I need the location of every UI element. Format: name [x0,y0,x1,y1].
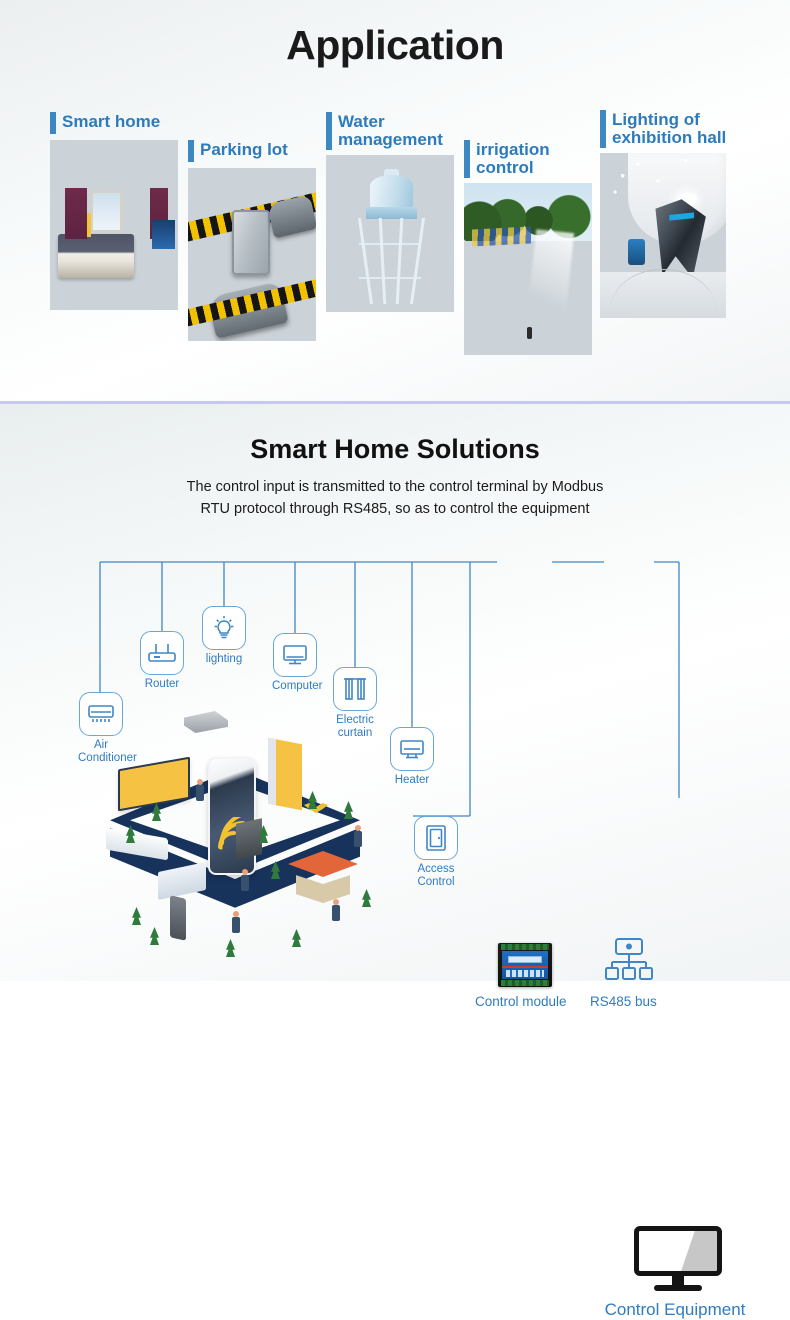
page-title: Application [0,22,790,69]
parking-lot-thumbnail [188,168,316,341]
application-card-irrigation-control[interactable]: irrigation control [464,140,594,355]
iso-tree [292,929,301,947]
module-face [502,951,548,979]
card-label: Parking lot [200,140,288,159]
node-label: Router [139,678,185,691]
iso-tree [226,939,235,957]
router-icon [140,631,184,675]
iso-person [332,899,340,921]
accent-bar [326,112,332,150]
rs485-bus-label: RS485 bus [590,994,657,1009]
accent-bar [464,140,470,178]
smart-home-thumbnail [50,140,178,310]
water-spray [525,229,574,332]
iso-tree [344,801,353,819]
tv-screen [152,220,175,249]
iso-refrigerator [268,738,302,811]
accent-bar [600,110,606,148]
smart-home-topology-diagram: Air Conditioner Router [0,404,790,981]
card-label-row: Parking lot [188,140,318,162]
car-upper [267,195,316,238]
iso-house [288,851,358,905]
card-label: irrigation control [476,140,550,178]
card-label: Smart home [62,112,160,131]
card-label: Lighting of exhibition hall [612,110,726,148]
door-access-icon [414,816,458,860]
monitor-screen [634,1226,722,1276]
application-section: Application Smart home Parking lot Water [0,0,790,403]
terminal-block-top [501,944,549,950]
control-equipment-label: Control Equipment [560,1300,790,1320]
accent-bar [188,140,194,162]
heater-icon [390,727,434,771]
screen-gloss [681,1231,717,1271]
display-kiosk [628,239,646,265]
iso-person [354,825,362,847]
card-label-row: irrigation control [464,140,594,178]
node-access-control[interactable]: Access Control [413,816,459,888]
tower-legs [362,218,421,304]
water-management-thumbnail [326,155,454,312]
iso-person [232,911,240,933]
iso-smartphone [208,757,256,875]
iso-tree [132,907,141,925]
application-card-smart-home[interactable]: Smart home [50,112,180,310]
iso-person [196,779,204,801]
node-router[interactable]: Router [139,631,185,691]
control-module-label: Control module [475,994,567,1009]
iso-smart-lock [170,895,186,940]
sprinkler-head [527,327,532,339]
irrigation-control-thumbnail [464,183,592,355]
window [91,191,122,232]
network-bus-icon [604,938,654,982]
house-roof [288,851,358,877]
smart-city-illustration [96,729,396,959]
light-bulb-icon [202,606,246,650]
node-label: Access Control [413,863,459,888]
accent-bar [50,112,56,134]
node-lighting[interactable]: lighting [201,606,247,666]
control-equipment-monitor[interactable] [634,1226,722,1294]
module-red-line [502,966,548,968]
card-label-row: Lighting of exhibition hall [600,110,750,148]
computer-monitor-icon [273,633,317,677]
monitor-base [654,1285,702,1291]
exhibition-hall-thumbnail [600,153,726,318]
control-module-device[interactable] [498,943,552,987]
card-label-row: Smart home [50,112,180,134]
application-card-exhibition-lighting[interactable]: Lighting of exhibition hall [600,110,750,318]
node-label: lighting [201,653,247,666]
curtain-icon [333,667,377,711]
node-label: Computer [272,680,318,693]
iso-tree [308,791,317,809]
iso-tree [150,927,159,945]
toll-booth [232,210,270,276]
card-label: Water management [338,112,443,150]
module-chip [508,956,542,963]
node-computer[interactable]: Computer [272,633,318,693]
smart-home-solutions-section: Smart Home Solutions The control input i… [0,404,790,981]
iso-tree [362,889,371,907]
iso-speakers [236,818,262,860]
module-terminals [506,970,544,977]
car-lower [207,281,289,338]
application-card-water-management[interactable]: Water management [326,112,456,312]
iso-person [241,869,249,891]
yellow-chair [78,213,91,237]
application-card-parking-lot[interactable]: Parking lot [188,140,318,341]
stadium-seats [472,226,531,246]
card-label-row: Water management [326,112,456,150]
